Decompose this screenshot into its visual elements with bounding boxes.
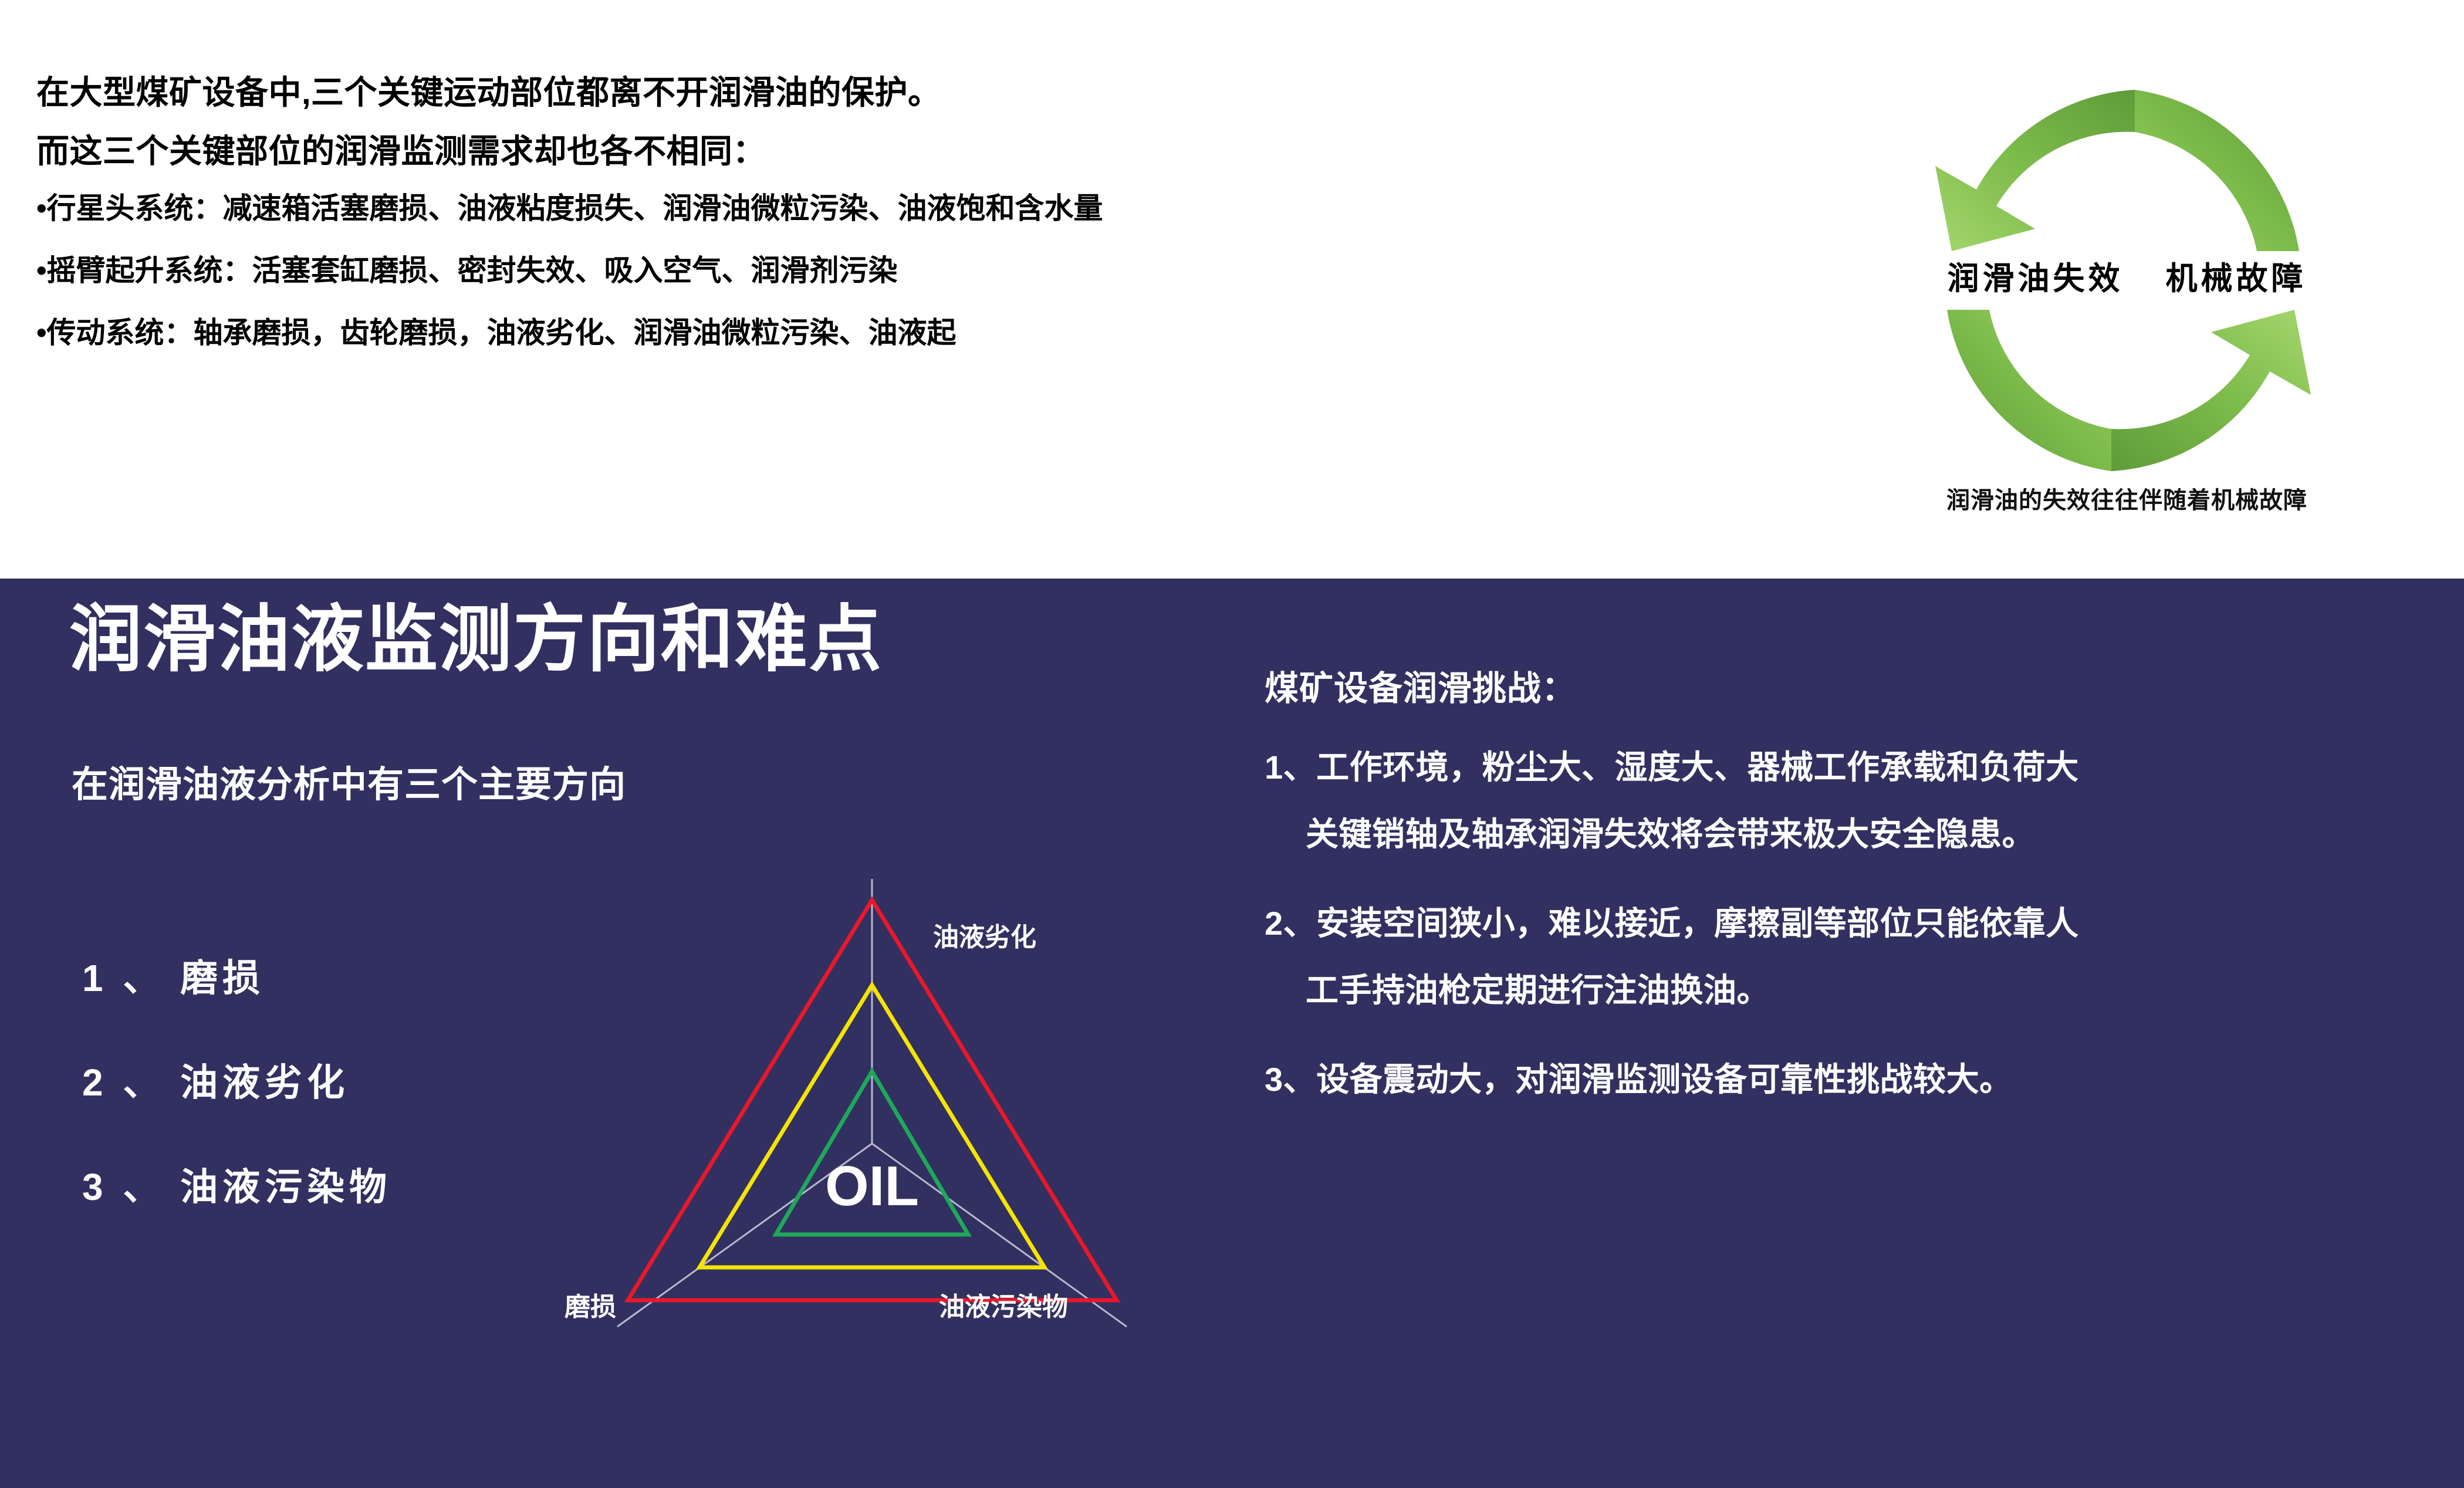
challenge-line-secondary: 工手持油枪定期进行注油换油。	[1265, 974, 2432, 1007]
monitoring-panel: 润滑油液监测方向和难点 在润滑油液分析中有三个主要方向 1 、 磨损 2 、 油…	[0, 579, 2464, 1488]
triangle-center-label: OIL	[825, 1155, 919, 1218]
bullet-item-planetary: •行星头系统：减速箱活塞磨损、油液粘度损失、润滑油微粒污染、油液饱和含水量	[36, 194, 1679, 223]
nested-triangles-graphic: OIL	[528, 837, 1209, 1423]
triangle-label-contaminants: 油液污染物	[939, 1286, 1068, 1323]
headline-line-2: 而这三个关键部位的润滑监测需求却也各不相同：	[36, 135, 1679, 168]
bullet-item-rocker-arm: •摇臂起升系统：活塞套缸磨损、密封失效、吸入空气、润滑剂污染	[36, 256, 1679, 285]
challenge-line-primary: 2、安装空间狭小，难以接近，摩擦副等部位只能依靠人	[1265, 907, 2432, 940]
failure-cycle-graphic: 润滑油失效机械故障 润滑油的失效往往伴随着机械故障	[1790, 58, 2464, 545]
challenge-line-secondary: 关键销轴及轴承润滑失效将会带来极大安全隐患。	[1265, 818, 2432, 851]
intro-text-block: 在大型煤矿设备中,三个关键运动部位都离不开润滑油的保护。 而这三个关键部位的润滑…	[36, 76, 1679, 347]
cycle-label-machine-fault: 机械故障	[2166, 261, 2307, 296]
page-title: 润滑油液监测方向和难点	[69, 603, 883, 676]
triangle-label-oil-degradation: 油液劣化	[933, 916, 1036, 953]
top-white-section: 在大型煤矿设备中,三个关键运动部位都离不开润滑油的保护。 而这三个关键部位的润滑…	[0, 0, 2464, 579]
challenge-item: 1、工作环境，粉尘大、湿度大、器械工作承载和负荷大 关键销轴及轴承润滑失效将会带…	[1265, 751, 2432, 851]
challenge-line-primary: 1、工作环境，粉尘大、湿度大、器械工作承载和负荷大	[1265, 751, 2432, 784]
challenge-line-primary: 3、设备震动大，对润滑监测设备可靠性挑战较大。	[1265, 1063, 2432, 1096]
challenges-column: 煤矿设备润滑挑战： 1、工作环境，粉尘大、湿度大、器械工作承载和负荷大 关键销轴…	[1265, 661, 2432, 1096]
triangle-label-wear: 磨损	[565, 1286, 616, 1323]
panel-subtitle: 在润滑油液分析中有三个主要方向	[72, 755, 626, 807]
challenges-heading: 煤矿设备润滑挑战：	[1265, 661, 2432, 710]
challenge-item: 2、安装空间狭小，难以接近，摩擦副等部位只能依靠人 工手持油枪定期进行注油换油。	[1265, 907, 2432, 1007]
cycle-labels: 润滑油失效机械故障	[1790, 252, 2464, 299]
triangle-axis-lines	[617, 879, 1127, 1327]
bullet-item-transmission: •传动系统：轴承磨损，齿轮磨损，油液劣化、润滑油微粒污染、油液起	[36, 318, 1679, 347]
challenge-item: 3、设备震动大，对润滑监测设备可靠性挑战较大。	[1265, 1063, 2432, 1096]
cycle-label-oil-failure: 润滑油失效	[1948, 261, 2124, 296]
headline-line-1: 在大型煤矿设备中,三个关键运动部位都离不开润滑油的保护。	[36, 76, 1679, 109]
cycle-caption: 润滑油的失效往往伴随着机械故障	[1790, 481, 2464, 515]
oil-triangle-diagram: OIL 油液劣化 磨损 油液污染物	[528, 837, 1209, 1423]
